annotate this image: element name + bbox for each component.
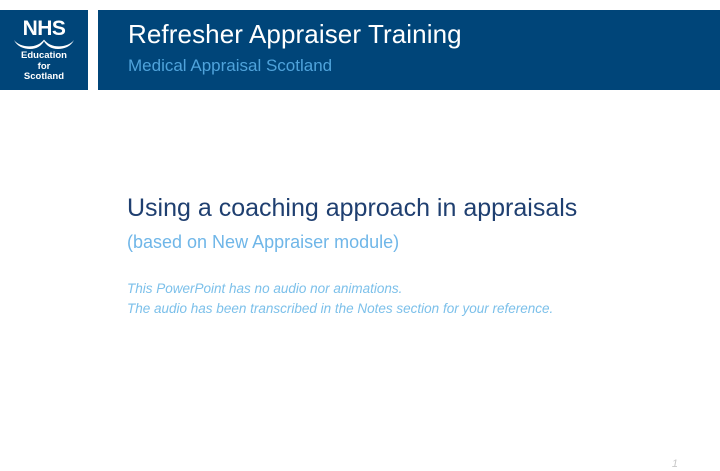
slide-body: Using a coaching approach in appraisals … [0,90,720,405]
notes-line-1: This PowerPoint has no audio nor animati… [127,279,553,299]
nhs-logo-block: NHS Education for Scotland [0,10,88,90]
header-title-block: Refresher Appraiser Training Medical App… [98,10,720,90]
slide: NHS Education for Scotland Refresher App… [0,0,720,405]
page-number: 1 [672,457,678,471]
nhs-strapline-line-1: Education [21,51,67,62]
nhs-strapline-line-3: Scotland [21,72,67,83]
main-subheading: (based on New Appraiser module) [127,230,399,254]
main-heading: Using a coaching approach in appraisals [127,193,577,223]
nhs-wordmark: NHS [23,18,66,39]
notes-text: This PowerPoint has no audio nor animati… [127,279,553,319]
nhs-strapline: Education for Scotland [21,51,67,83]
nhs-swoosh-icon [13,39,75,50]
notes-line-2: The audio has been transcribed in the No… [127,299,553,319]
presentation-title: Refresher Appraiser Training [128,18,720,50]
presentation-subtitle: Medical Appraisal Scotland [128,54,720,78]
